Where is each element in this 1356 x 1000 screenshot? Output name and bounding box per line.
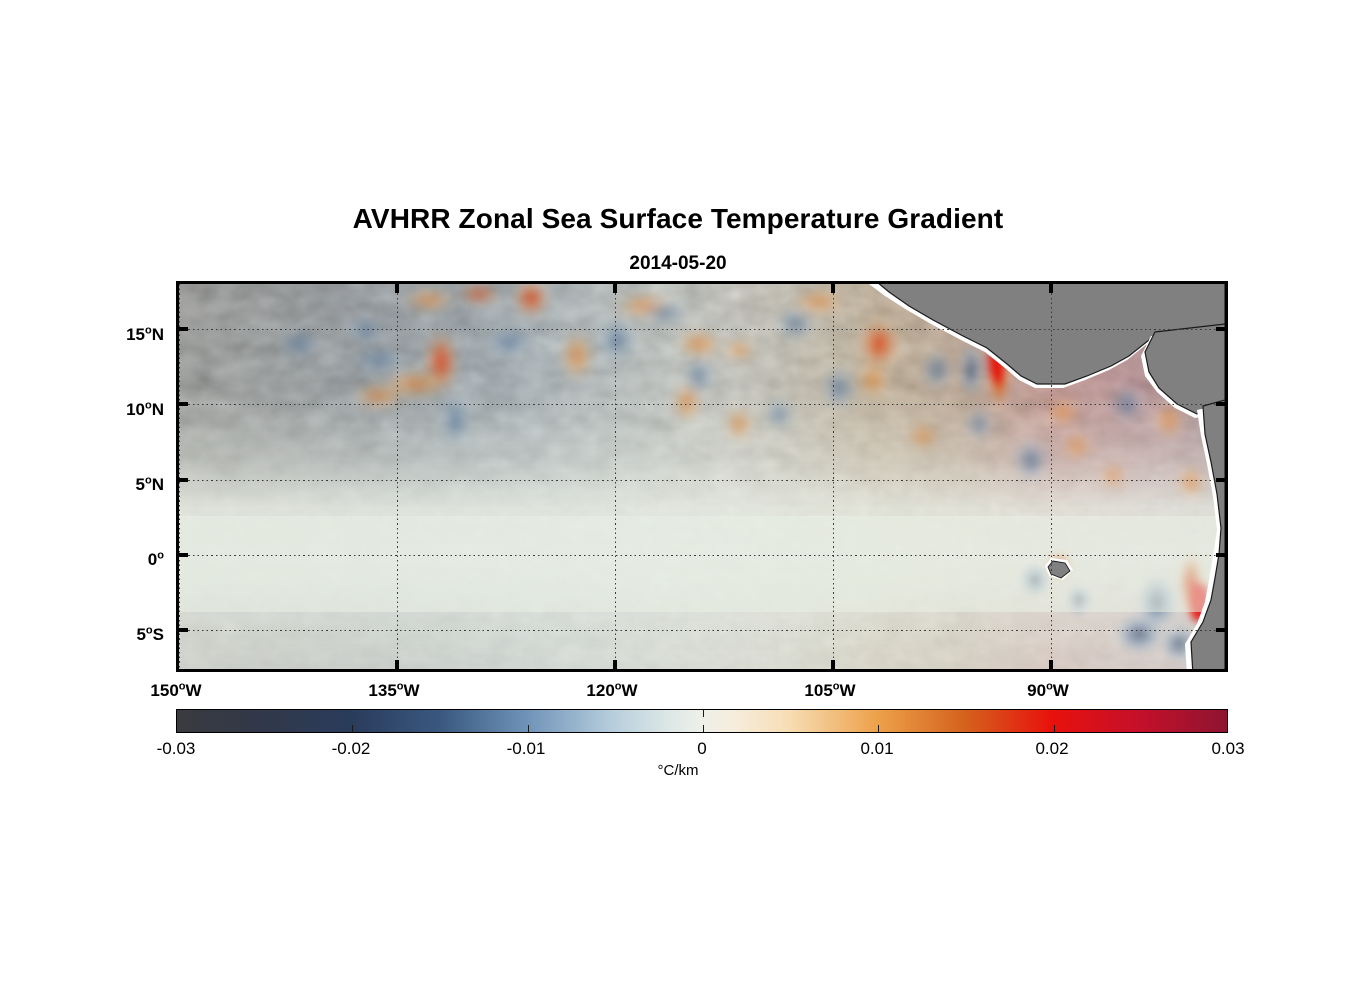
ytick-label-0: 0o [60,550,164,570]
gridline-lat-10n [179,404,1225,405]
cbtick-zero-b [703,725,704,732]
cb-label-pos001: 0.01 [817,739,937,759]
xtick-top-105w [831,284,835,293]
gridline-lat-15n [179,329,1225,330]
cbtick-neg001 [528,725,529,732]
xtick-top-90w [1049,284,1053,293]
cbtick-pos001 [878,725,879,732]
ytick-5s [179,628,188,632]
xtick-top-120w [613,284,617,293]
map-axes[interactable] [176,281,1228,672]
ytick-label-5n: 5oN [60,475,164,495]
colorbar[interactable] [176,709,1228,733]
ytick-right-10n [1216,402,1225,406]
cb-label-pos003: 0.03 [1168,739,1288,759]
xtick-label-150w: 150oW [116,681,236,701]
colorbar-unit-label: °C/km [0,762,1356,779]
gridline-lon-135w [397,284,398,669]
ytick-right-15n [1216,327,1225,331]
cb-label-pos002: 0.02 [992,739,1112,759]
cb-label-neg002: -0.02 [291,739,411,759]
figure-canvas: AVHRR Zonal Sea Surface Temperature Grad… [0,0,1356,1000]
sst-gradient-field [179,284,1225,669]
xtick-120w [613,660,617,669]
gridline-lat-5n [179,480,1225,481]
cbtick-zero [703,710,704,717]
gridline-lat-0 [179,555,1225,556]
xtick-top-135w [395,284,399,293]
page-subtitle: 2014-05-20 [0,253,1356,275]
xtick-label-135w: 135oW [334,681,454,701]
gridline-lon-150w [179,284,180,669]
xtick-label-90w: 90oW [988,681,1108,701]
ytick-label-15n: 15oN [60,325,164,345]
cb-label-neg001: -0.01 [466,739,586,759]
cbtick-neg002 [352,725,353,732]
xtick-label-120w: 120oW [552,681,672,701]
ytick-0 [179,553,188,557]
ytick-15n [179,327,188,331]
xtick-135w [395,660,399,669]
ytick-10n [179,402,188,406]
xtick-105w [831,660,835,669]
xtick-90w [1049,660,1053,669]
xtick-label-105w: 105oW [770,681,890,701]
page-title: AVHRR Zonal Sea Surface Temperature Grad… [0,203,1356,235]
gridline-lon-90w [1051,284,1052,669]
ytick-right-5n [1216,478,1225,482]
ytick-5n [179,478,188,482]
gridline-lon-120w [615,284,616,669]
cbtick-pos002 [1054,725,1055,732]
colorbar-gradient [177,710,1227,732]
gridline-lon-105w [833,284,834,669]
ytick-right-5s [1216,628,1225,632]
cb-label-zero: 0 [642,739,762,759]
ytick-label-5s: 5oS [60,625,164,645]
ytick-label-10n: 10oN [60,400,164,420]
gridline-lat-5s [179,630,1225,631]
ytick-right-0 [1216,553,1225,557]
cb-label-neg003: -0.03 [116,739,236,759]
